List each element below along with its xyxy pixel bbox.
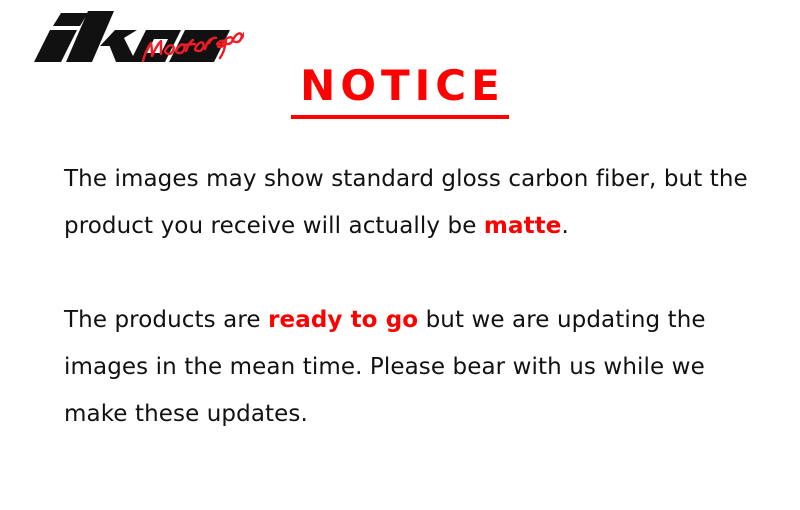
paragraph-matte: The images may show standard gloss carbo… — [64, 156, 760, 250]
highlight-ready-to-go: ready to go — [268, 307, 418, 333]
brand-logo — [4, 4, 244, 66]
paragraph-updating-text-1: The products are — [64, 307, 268, 333]
paragraph-updating: The products are ready to go but we are … — [64, 297, 760, 438]
notice-body: The images may show standard gloss carbo… — [64, 156, 760, 438]
highlight-matte: matte — [484, 213, 562, 239]
paragraph-matte-text-1: The images may show standard gloss carbo… — [64, 166, 748, 239]
page-title: NOTICE — [291, 64, 509, 119]
notice-heading-container: NOTICE — [0, 64, 800, 119]
paragraph-matte-text-2: . — [561, 213, 568, 239]
logo-wordmark-ikon — [34, 11, 230, 62]
notice-card: NOTICE The images may show standard glos… — [0, 0, 800, 510]
